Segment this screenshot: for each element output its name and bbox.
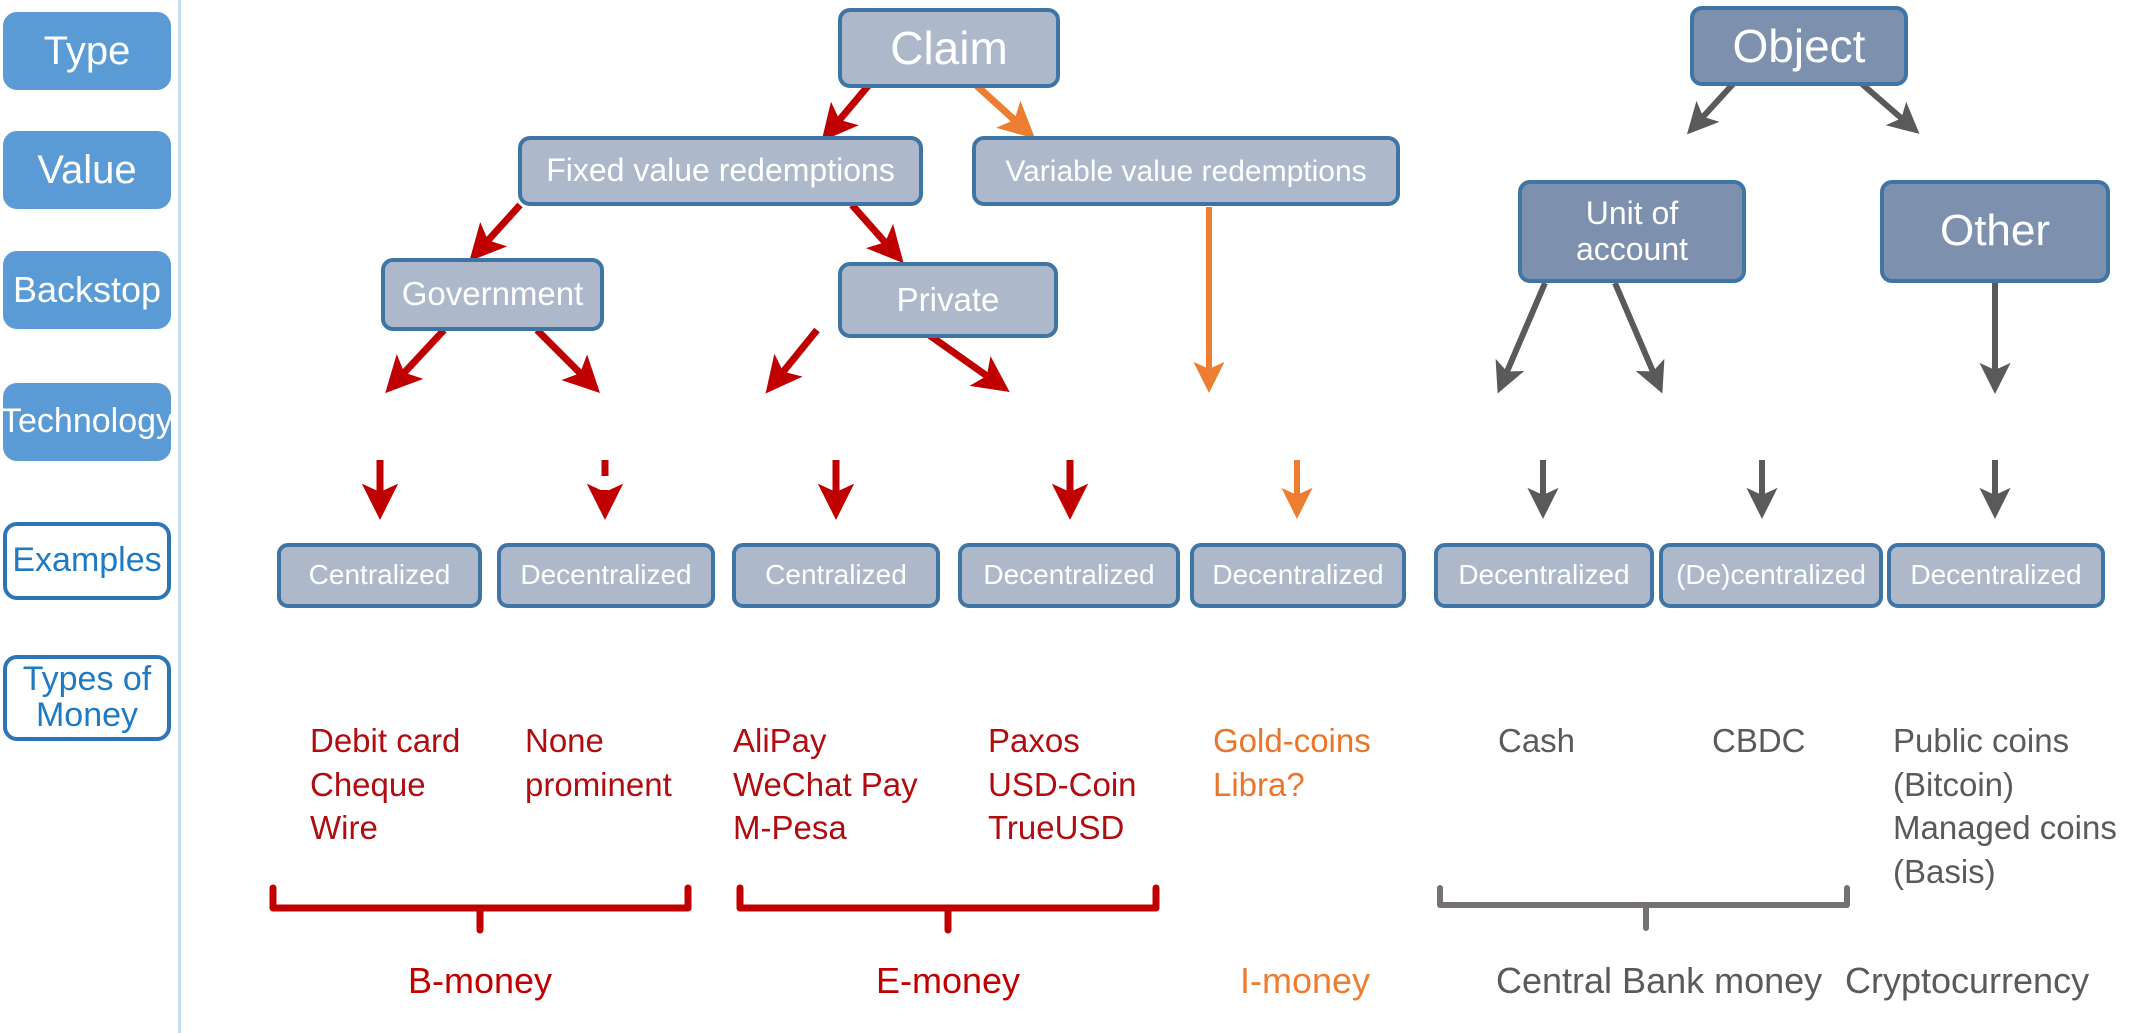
node-tech-centralized-private[interactable]: Centralized — [732, 543, 940, 608]
money-type-cryptocurrency: Cryptocurrency — [1845, 960, 2145, 1002]
money-tree-diagram: Type Value Backstop Technology Examples … — [0, 0, 2145, 1033]
row-label-backstop: Backstop — [3, 251, 171, 329]
node-tech-decentralized-gov-label: Decentralized — [520, 560, 691, 591]
example-line: None — [525, 719, 672, 763]
example-line: Gold-coins — [1213, 719, 1371, 763]
node-tech-decentralized-unit[interactable]: Decentralized — [1434, 543, 1654, 608]
example-line: Paxos — [988, 719, 1137, 763]
example-line: (Bitcoin) — [1893, 763, 2117, 807]
node-government[interactable]: Government — [381, 258, 604, 331]
examples-b-money-centralized: Debit card Cheque Wire — [310, 719, 460, 850]
brace-b-money — [273, 888, 688, 930]
example-line: WeChat Pay — [733, 763, 918, 807]
examples-i-money: Gold-coins Libra? — [1213, 719, 1371, 806]
example-line: Managed coins — [1893, 806, 2117, 850]
brace-e-money — [740, 888, 1156, 930]
node-tech-decentralized-unit-label: Decentralized — [1458, 560, 1629, 591]
arrow-private-to-centralized — [770, 330, 817, 388]
arrow-private-to-decentralized — [922, 330, 1004, 388]
row-label-types-of-money-text: Types of Money — [7, 662, 167, 733]
example-line: Libra? — [1213, 763, 1371, 807]
example-line: AliPay — [733, 719, 918, 763]
node-tech-decentralized-gov[interactable]: Decentralized — [497, 543, 715, 608]
node-tech-centralized-private-label: Centralized — [765, 560, 907, 591]
arrow-fixed-to-private — [852, 205, 899, 258]
node-tech-decentralized-private[interactable]: Decentralized — [958, 543, 1180, 608]
arrow-government-to-decentralized — [537, 330, 595, 388]
node-private[interactable]: Private — [838, 262, 1058, 338]
row-label-examples-text: Examples — [12, 543, 161, 579]
money-type-e-money: E-money — [798, 960, 1098, 1002]
example-line: Cheque — [310, 763, 460, 807]
examples-cash: Cash — [1498, 719, 1575, 763]
example-line: Debit card — [310, 719, 460, 763]
node-government-label: Government — [402, 276, 584, 312]
sidebar-divider — [178, 0, 181, 1033]
node-other[interactable]: Other — [1880, 180, 2110, 283]
node-tech-decentralized-variable[interactable]: Decentralized — [1190, 543, 1406, 608]
arrow-object-to-other — [1862, 84, 1915, 130]
node-claim[interactable]: Claim — [838, 8, 1060, 88]
row-label-technology-text: Technology — [1, 404, 173, 440]
examples-cbdc: CBDC — [1712, 719, 1806, 763]
node-tech-de-centralized-unit[interactable]: (De)centralized — [1659, 543, 1883, 608]
arrow-fixed-to-government — [474, 205, 520, 256]
money-type-e-money-label: E-money — [876, 960, 1020, 1001]
example-line: Wire — [310, 806, 460, 850]
arrow-claim-to-variable — [977, 86, 1030, 134]
example-line: M-Pesa — [733, 806, 918, 850]
node-tech-centralized-gov[interactable]: Centralized — [277, 543, 482, 608]
example-line: prominent — [525, 763, 672, 807]
row-label-value-text: Value — [37, 149, 136, 191]
money-type-i-money-label: I-money — [1240, 960, 1370, 1001]
arrow-unit-to-decentralized — [1500, 283, 1545, 388]
row-label-value: Value — [3, 131, 171, 209]
brace-central-bank-money — [1440, 888, 1847, 928]
node-tech-decentralized-private-label: Decentralized — [983, 560, 1154, 591]
money-type-central-bank-money: Central Bank money — [1496, 960, 1796, 1002]
arrow-object-to-unit-of-account — [1691, 84, 1733, 130]
arrow-claim-to-fixed — [826, 86, 868, 136]
row-label-technology: Technology — [3, 383, 171, 461]
row-label-types-of-money: Types of Money — [3, 655, 171, 741]
arrow-government-to-centralized — [390, 330, 444, 388]
money-type-i-money: I-money — [1155, 960, 1455, 1002]
node-fixed-value-redemptions[interactable]: Fixed value redemptions — [518, 136, 923, 206]
node-tech-decentralized-variable-label: Decentralized — [1212, 560, 1383, 591]
examples-e-money-centralized: AliPay WeChat Pay M-Pesa — [733, 719, 918, 850]
example-line: USD-Coin — [988, 763, 1137, 807]
money-type-cryptocurrency-label: Cryptocurrency — [1845, 960, 2089, 1001]
examples-cryptocurrency: Public coins (Bitcoin) Managed coins (Ba… — [1893, 719, 2117, 893]
row-label-backstop-text: Backstop — [13, 271, 161, 309]
node-private-label: Private — [897, 282, 1000, 318]
node-claim-label: Claim — [890, 23, 1008, 74]
node-other-label: Other — [1940, 207, 2050, 255]
node-tech-de-centralized-unit-label: (De)centralized — [1676, 560, 1866, 591]
arrow-unit-to-decentralized-alt — [1615, 283, 1660, 388]
node-unit-of-account-label: Unit of account — [1528, 196, 1736, 266]
examples-e-money-decentralized: Paxos USD-Coin TrueUSD — [988, 719, 1137, 850]
row-label-type-text: Type — [44, 30, 131, 72]
node-variable-value-redemptions[interactable]: Variable value redemptions — [972, 136, 1400, 206]
example-line: Cash — [1498, 719, 1575, 763]
money-type-central-bank-money-label: Central Bank money — [1496, 960, 1822, 1001]
example-line: (Basis) — [1893, 850, 2117, 894]
node-unit-of-account[interactable]: Unit of account — [1518, 180, 1746, 283]
examples-b-money-decentralized: None prominent — [525, 719, 672, 806]
money-type-b-money: B-money — [330, 960, 630, 1002]
row-label-type: Type — [3, 12, 171, 90]
node-object[interactable]: Object — [1690, 6, 1908, 86]
node-tech-decentralized-other[interactable]: Decentralized — [1887, 543, 2105, 608]
node-fixed-value-redemptions-label: Fixed value redemptions — [546, 153, 895, 188]
node-object-label: Object — [1733, 21, 1866, 72]
example-line: CBDC — [1712, 719, 1806, 763]
node-tech-centralized-gov-label: Centralized — [309, 560, 451, 591]
node-variable-value-redemptions-label: Variable value redemptions — [1005, 155, 1366, 188]
example-line: Public coins — [1893, 719, 2117, 763]
example-line: TrueUSD — [988, 806, 1137, 850]
node-tech-decentralized-other-label: Decentralized — [1910, 560, 2081, 591]
money-type-b-money-label: B-money — [408, 960, 552, 1001]
row-label-examples: Examples — [3, 522, 171, 600]
